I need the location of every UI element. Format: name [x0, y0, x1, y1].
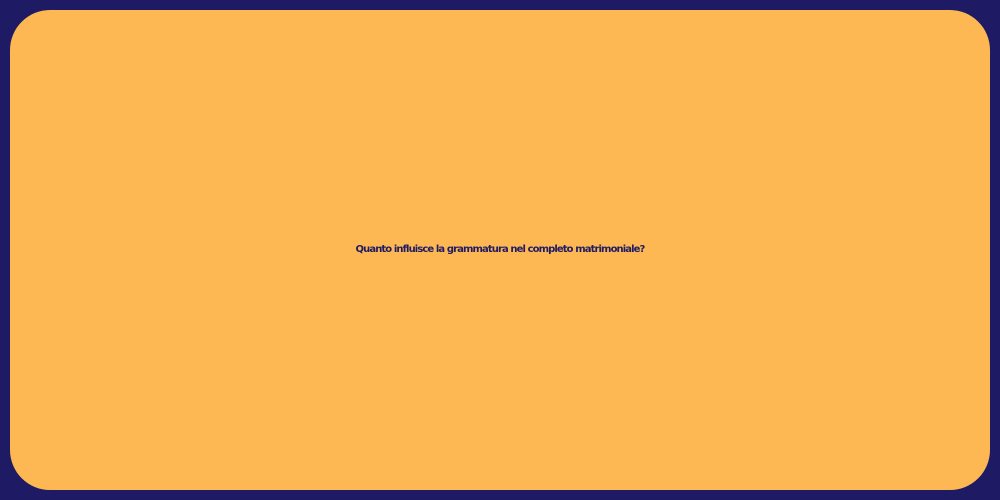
page-canvas: Quanto influisce la grammatura nel compl… — [0, 0, 1000, 500]
page-title: Quanto influisce la grammatura nel compl… — [10, 244, 990, 257]
headline-card: Quanto influisce la grammatura nel compl… — [10, 10, 990, 490]
